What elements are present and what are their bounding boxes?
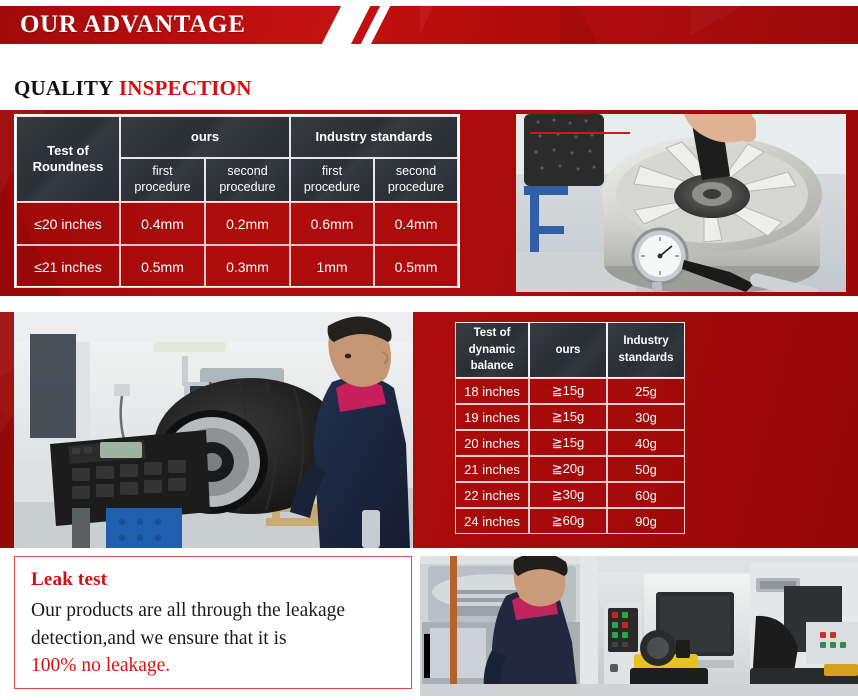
table-header-row-groups: Test of Roundness ours Industry standard… [16, 116, 458, 202]
row-ours: ≧15g [529, 430, 607, 456]
row-ours: ≧20g [529, 456, 607, 482]
leak-test-box: Leak test Our products are all through t… [14, 556, 412, 689]
factory-photo-graphic [420, 556, 858, 696]
leak-body-line1: Our products are all through the leakage [31, 600, 345, 621]
row-industry: 90g [607, 508, 685, 534]
header-line3: balance [471, 358, 514, 375]
balance-photo-graphic [14, 312, 413, 548]
row-ours: ≧30g [529, 482, 607, 508]
row-industry: 60g [607, 482, 685, 508]
table-row: 18 inches ≧15g 25g [455, 378, 685, 404]
row-value: 1mm [290, 245, 374, 288]
balancing-machine-photo [14, 312, 413, 548]
balance-header-ours: ours [529, 322, 607, 378]
row-size: 21 inches [455, 456, 529, 482]
balance-header-industry: Industry standards [607, 322, 685, 378]
roundness-table: Test of Roundness ours Industry standard… [14, 114, 460, 288]
row-size: 18 inches [455, 378, 529, 404]
subheader-line2: procedure [134, 180, 190, 196]
group-header-ours: ours [120, 116, 290, 158]
group-header-row: ours Industry standards [120, 116, 458, 158]
subheader-line2: procedure [388, 180, 444, 196]
page-title: OUR ADVANTAGE [20, 11, 246, 39]
sub-header-row: first procedure second procedure first p… [120, 158, 458, 202]
row-size: 19 inches [455, 404, 529, 430]
section-heading-inspection: INSPECTION [119, 76, 252, 100]
leak-test-title: Leak test [31, 569, 395, 591]
dynamic-balance-section: Test of dynamic balance ours Industry st… [0, 312, 858, 548]
roundness-inspection-photo [516, 114, 846, 292]
row-value: 0.5mm [120, 245, 205, 288]
header-line2: standards [619, 350, 674, 367]
row-value: 0.4mm [120, 202, 205, 245]
roundness-section: Test of Roundness ours Industry standard… [0, 110, 858, 296]
row-value: 0.3mm [205, 245, 290, 288]
row-value: 0.6mm [290, 202, 374, 245]
table-row: 20 inches ≧15g 40g [455, 430, 685, 456]
subheader-line1: first [152, 164, 172, 180]
subheader-ours-second: second procedure [205, 158, 290, 202]
row-value: 0.2mm [205, 202, 290, 245]
page-banner: OUR ADVANTAGE [0, 6, 858, 44]
roundness-corner-header: Test of Roundness [16, 116, 120, 202]
dynamic-balance-table: Test of dynamic balance ours Industry st… [455, 322, 685, 539]
header-line2: dynamic [469, 342, 516, 359]
table-header-row: Test of dynamic balance ours Industry st… [455, 322, 685, 378]
roundness-photo-graphic [516, 114, 846, 292]
row-label: ≤21 inches [16, 245, 120, 288]
corner-header-line1: Test of [47, 143, 89, 159]
subheader-line1: second [396, 164, 436, 180]
row-ours: ≧15g [529, 378, 607, 404]
row-label: ≤20 inches [16, 202, 120, 245]
row-size: 22 inches [455, 482, 529, 508]
table-row: ≤20 inches 0.4mm 0.2mm 0.6mm 0.4mm [16, 202, 458, 245]
table-row: 22 inches ≧30g 60g [455, 482, 685, 508]
section-heading-quality: QUALITY [14, 76, 113, 100]
corner-header-line2: Roundness [33, 159, 104, 175]
row-size: 20 inches [455, 430, 529, 456]
table-row: 19 inches ≧15g 30g [455, 404, 685, 430]
factory-floor-photo [420, 556, 858, 696]
section-heading: QUALITY INSPECTION [14, 76, 252, 101]
row-ours: ≧15g [529, 404, 607, 430]
table-row: 24 inches ≧60g 90g [455, 508, 685, 534]
table-row: 21 inches ≧20g 50g [455, 456, 685, 482]
group-header-industry: Industry standards [290, 116, 458, 158]
leak-test-body: Our products are all through the leakage… [31, 597, 395, 680]
subheader-line2: procedure [219, 180, 275, 196]
balance-header-test: Test of dynamic balance [455, 322, 529, 378]
row-value: 0.4mm [374, 202, 458, 245]
subheader-line1: first [322, 164, 342, 180]
header-line1: Industry [623, 333, 668, 350]
table-row: ≤21 inches 0.5mm 0.3mm 1mm 0.5mm [16, 245, 458, 288]
leak-test-section: Leak test Our products are all through t… [0, 556, 858, 700]
row-value: 0.5mm [374, 245, 458, 288]
subheader-ours-first: first procedure [120, 158, 205, 202]
row-size: 24 inches [455, 508, 529, 534]
header-line1: Test of [474, 325, 511, 342]
subheader-industry-first: first procedure [290, 158, 374, 202]
subheader-line2: procedure [304, 180, 360, 196]
row-industry: 40g [607, 430, 685, 456]
row-industry: 50g [607, 456, 685, 482]
row-ours: ≧60g [529, 508, 607, 534]
leak-body-highlight: 100% no leakage. [31, 655, 170, 676]
leak-body-line2: detection,and we ensure that it is [31, 628, 287, 649]
subheader-industry-second: second procedure [374, 158, 458, 202]
subheader-line1: second [227, 164, 267, 180]
row-industry: 25g [607, 378, 685, 404]
row-industry: 30g [607, 404, 685, 430]
